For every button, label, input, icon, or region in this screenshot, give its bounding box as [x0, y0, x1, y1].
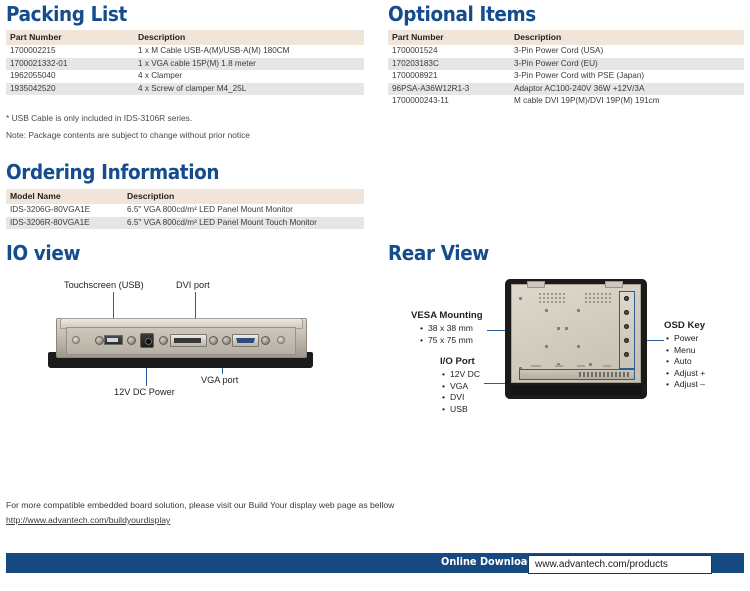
list-item: DVI — [442, 392, 480, 404]
dvi-port-icon — [170, 334, 207, 347]
list-item: Adjust + — [666, 368, 705, 380]
datasheet-page: Packing List Part Number Description 170… — [0, 0, 750, 591]
online-download-url-field[interactable]: www.advantech.com/products — [528, 555, 712, 574]
io-label-dvi-port: DVI port — [176, 280, 210, 290]
list-item: 75 x 75 mm — [420, 335, 473, 347]
table-row: 1700002215 1 x M Cable USB-A(M)/USB-A(M)… — [6, 45, 364, 58]
column-header-description: Description — [123, 189, 364, 204]
cell-description: 1 x VGA cable 15P(M) 1.8 meter — [134, 58, 364, 71]
leader-line-touchscreen — [113, 292, 114, 318]
section-title-ordering-information: Ordering Information — [6, 160, 219, 184]
list-item: USB — [442, 404, 480, 416]
cell-model-name: IDS-3206R-80VGA1E — [6, 217, 123, 230]
list-item: Power — [666, 333, 705, 345]
cell-model-name: IDS-3206G-80VGA1E — [6, 204, 123, 217]
io-label-touchscreen-usb: Touchscreen (USB) — [64, 280, 144, 290]
io-label-vga-port: VGA port — [201, 375, 238, 385]
table-row: 1700021332-01 1 x VGA cable 15P(M) 1.8 m… — [6, 58, 364, 71]
section-title-optional-items: Optional Items — [388, 2, 536, 26]
cell-part-number: 1700001524 — [388, 45, 510, 58]
table-row: IDS-3206G-80VGA1E 6.5" VGA 800cd/m² LED … — [6, 204, 364, 217]
rear-label-vesa-mounting: VESA Mounting — [411, 310, 483, 321]
cell-description: 6.5" VGA 800cd/m² LED Panel Mount Monito… — [123, 204, 364, 217]
table-row: 170203183C 3-Pin Power Cord (EU) — [388, 58, 744, 71]
chassis-screw-icon — [277, 336, 285, 344]
optional-items-table: Part Number Description 1700001524 3-Pin… — [388, 30, 744, 108]
cell-description: Adaptor AC100-240V 36W +12V/3A — [510, 83, 744, 96]
cell-description: 4 x Clamper — [134, 70, 364, 83]
list-item: Adjust – — [666, 379, 705, 391]
cell-part-number: 1700008921 — [388, 70, 510, 83]
cell-description: 1 x M Cable USB-A(M)/USB-A(M) 180CM — [134, 45, 364, 58]
osd-key-strip[interactable] — [619, 291, 635, 369]
table-row: 96PSA-A36W12R1-3 Adaptor AC100-240V 36W … — [388, 83, 744, 96]
ordering-information-table: Model Name Description IDS-3206G-80VGA1E… — [6, 189, 364, 229]
packing-list-table: Part Number Description 1700002215 1 x M… — [6, 30, 364, 95]
packing-list-note-package: Note: Package contents are subject to ch… — [6, 130, 250, 140]
cell-part-number: 1935042520 — [6, 83, 134, 96]
column-header-description: Description — [134, 30, 364, 45]
panel-jack-icon — [159, 336, 168, 345]
table-row: 1962055040 4 x Clamper — [6, 70, 364, 83]
cell-description: 3-Pin Power Cord (EU) — [510, 58, 744, 71]
cell-part-number: 1962055040 — [6, 70, 134, 83]
panel-jack-icon — [95, 336, 104, 345]
column-header-part-number: Part Number — [388, 30, 510, 45]
rear-marking — [603, 365, 611, 367]
rear-tab — [605, 281, 623, 288]
table-row: 1700001524 3-Pin Power Cord (USA) — [388, 45, 744, 58]
usb-port-icon — [104, 335, 123, 345]
cell-part-number: 96PSA-A36W12R1-3 — [388, 83, 510, 96]
rear-bottom-bar — [511, 385, 641, 395]
rear-list-io-port: 12V DC VGA DVI USB — [442, 369, 480, 415]
io-connector-strip — [579, 372, 631, 377]
panel-jack-icon — [261, 336, 270, 345]
column-header-description: Description — [510, 30, 744, 45]
section-title-io-view: IO view — [6, 241, 80, 265]
rear-io-port-area — [519, 369, 635, 380]
cell-description: 4 x Screw of clamper M4_25L — [134, 83, 364, 96]
panel-jack-icon — [222, 336, 231, 345]
table-row: IDS-3206R-80VGA1E 6.5" VGA 800cd/m² LED … — [6, 217, 364, 230]
rear-tab — [527, 281, 545, 288]
rear-view-monitor-image — [505, 279, 647, 399]
cell-part-number: 1700000243-11 — [388, 95, 510, 108]
chassis-screw-icon — [72, 336, 80, 344]
io-view-monitor-image — [48, 318, 313, 370]
io-label-12v-dc-power: 12V DC Power — [114, 387, 175, 397]
column-header-model-name: Model Name — [6, 189, 123, 204]
table-row: 1935042520 4 x Screw of clamper M4_25L — [6, 83, 364, 96]
list-item: Menu — [666, 345, 705, 357]
panel-jack-icon — [127, 336, 136, 345]
dc-power-jack-icon — [140, 333, 154, 348]
footer-description: For more compatible embedded board solut… — [6, 500, 394, 510]
section-title-packing-list: Packing List — [6, 2, 127, 26]
footer-link-buildyourdisplay[interactable]: http://www.advantech.com/buildyourdispla… — [6, 515, 170, 525]
list-item: 12V DC — [442, 369, 480, 381]
list-item: VGA — [442, 381, 480, 393]
rear-marking — [531, 365, 541, 367]
cell-part-number: 170203183C — [388, 58, 510, 71]
panel-jack-icon — [209, 336, 218, 345]
rear-list-osd-key: Power Menu Auto Adjust + Adjust – — [666, 333, 705, 391]
vga-port-icon — [232, 334, 259, 347]
column-header-part-number: Part Number — [6, 30, 134, 45]
cell-description: 3-Pin Power Cord with PSE (Japan) — [510, 70, 744, 83]
rear-marking — [577, 365, 585, 367]
rear-label-osd-key: OSD Key — [664, 320, 705, 331]
rear-marking — [555, 365, 563, 367]
table-header-row: Part Number Description — [388, 30, 744, 45]
table-header-row: Part Number Description — [6, 30, 364, 45]
cell-part-number: 1700021332-01 — [6, 58, 134, 71]
list-item: 38 x 38 mm — [420, 323, 473, 335]
cell-description: 3-Pin Power Cord (USA) — [510, 45, 744, 58]
table-row: 1700008921 3-Pin Power Cord with PSE (Ja… — [388, 70, 744, 83]
online-download-label: Online Download — [441, 556, 534, 568]
packing-list-note-usb: * USB Cable is only included in IDS-3106… — [6, 113, 192, 123]
cell-description: M cable DVI 19P(M)/DVI 19P(M) 191cm — [510, 95, 744, 108]
section-title-rear-view: Rear View — [388, 241, 489, 265]
cell-part-number: 1700002215 — [6, 45, 134, 58]
rear-label-io-port: I/O Port — [440, 356, 475, 367]
rear-list-vesa-mounting: 38 x 38 mm 75 x 75 mm — [420, 323, 473, 346]
table-row: 1700000243-11 M cable DVI 19P(M)/DVI 19P… — [388, 95, 744, 108]
list-item: Auto — [666, 356, 705, 368]
online-download-url-text: www.advantech.com/products — [535, 559, 668, 570]
cell-description: 6.5" VGA 800cd/m² LED Panel Mount Touch … — [123, 217, 364, 230]
table-header-row: Model Name Description — [6, 189, 364, 204]
